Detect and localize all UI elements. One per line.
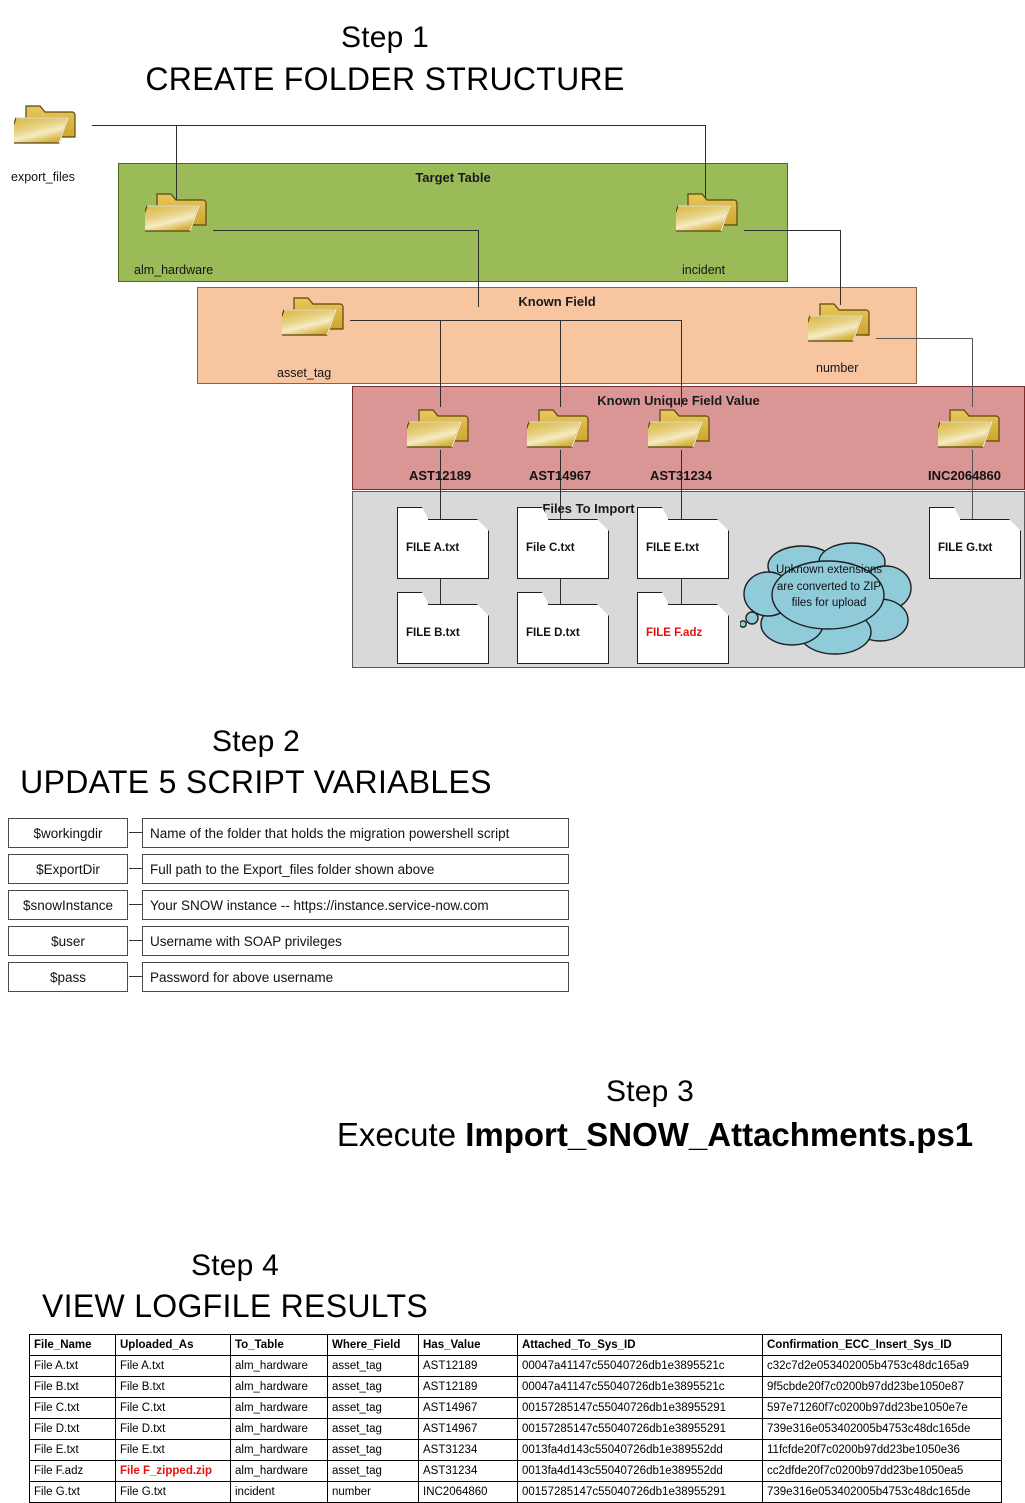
table-cell: File F.adz bbox=[30, 1461, 116, 1482]
folder-label-export-files: export_files bbox=[11, 170, 75, 184]
connector bbox=[681, 320, 682, 407]
table-row: File A.txt File A.txt alm_hardware asset… bbox=[30, 1356, 1002, 1377]
connector bbox=[440, 450, 441, 519]
table-cell: 739e316e053402005b4753c48dc165de bbox=[763, 1419, 1002, 1440]
table-cell: asset_tag bbox=[328, 1440, 419, 1461]
table-cell: incident bbox=[231, 1482, 328, 1503]
table-cell: File G.txt bbox=[30, 1482, 116, 1503]
logfile-results-table: File_Name Uploaded_As To_Table Where_Fie… bbox=[29, 1334, 1002, 1503]
table-cell: 00047a41147c55040726db1e3895521c bbox=[518, 1377, 763, 1398]
table-cell: asset_tag bbox=[328, 1461, 419, 1482]
folder-label-asset-tag: asset_tag bbox=[277, 366, 331, 380]
table-cell: asset_tag bbox=[328, 1377, 419, 1398]
file-node-label: FILE D.txt bbox=[526, 627, 580, 639]
table-cell: File C.txt bbox=[30, 1398, 116, 1419]
variable-name[interactable]: $pass bbox=[8, 962, 128, 992]
corner-clip bbox=[597, 519, 609, 531]
folder-label-ast31234: AST31234 bbox=[650, 468, 712, 483]
table-cell: 9f5cbde20f7c0200b97dd23be1050e87 bbox=[763, 1377, 1002, 1398]
variable-name[interactable]: $user bbox=[8, 926, 128, 956]
folder-icon-alm-hardware[interactable] bbox=[145, 188, 213, 236]
table-cell: alm_hardware bbox=[231, 1440, 328, 1461]
folder-label-number: number bbox=[816, 361, 858, 375]
file-node-a[interactable]: FILE A.txt bbox=[397, 519, 489, 579]
table-cell: asset_tag bbox=[328, 1419, 419, 1440]
file-node-e[interactable]: FILE E.txt bbox=[637, 519, 729, 579]
column-header: Confirmation_ECC_Insert_Sys_ID bbox=[763, 1335, 1002, 1356]
file-node-d[interactable]: FILE D.txt bbox=[517, 604, 609, 664]
connector bbox=[92, 125, 706, 126]
thought-cloud-text: Unknown extensions are converted to ZIP … bbox=[768, 562, 890, 612]
table-cell: File B.txt bbox=[30, 1377, 116, 1398]
table-cell: number bbox=[328, 1482, 419, 1503]
folder-icon-ast12189[interactable] bbox=[407, 404, 475, 452]
table-cell: File C.txt bbox=[116, 1398, 231, 1419]
column-header: File_Name bbox=[30, 1335, 116, 1356]
connector bbox=[560, 450, 561, 519]
table-cell: 11fcfde20f7c0200b97dd23be1050e36 bbox=[763, 1440, 1002, 1461]
step1-number: Step 1 bbox=[235, 22, 535, 54]
table-cell: File E.txt bbox=[30, 1440, 116, 1461]
folder-label-incident: incident bbox=[682, 263, 725, 277]
diagram-canvas: Step 1 CREATE FOLDER STRUCTURE Target Ta… bbox=[0, 0, 1025, 1500]
variable-name[interactable]: $workingdir bbox=[8, 818, 128, 848]
folder-icon-ast14967[interactable] bbox=[527, 404, 595, 452]
table-cell: asset_tag bbox=[328, 1356, 419, 1377]
table-cell: alm_hardware bbox=[231, 1398, 328, 1419]
table-cell: AST31234 bbox=[419, 1461, 518, 1482]
file-node-label: FILE B.txt bbox=[406, 627, 460, 639]
step3-title: Execute Import_SNOW_Attachments.ps1 bbox=[305, 1118, 1005, 1153]
table-cell: File E.txt bbox=[116, 1440, 231, 1461]
table-row: File E.txt File E.txt alm_hardware asset… bbox=[30, 1440, 1002, 1461]
step3-number: Step 3 bbox=[500, 1076, 800, 1108]
column-header: Attached_To_Sys_ID bbox=[518, 1335, 763, 1356]
table-cell: File A.txt bbox=[30, 1356, 116, 1377]
connector-dash bbox=[129, 904, 142, 905]
folder-label-alm-hardware: alm_hardware bbox=[134, 263, 213, 277]
connector bbox=[744, 230, 840, 231]
connector bbox=[560, 320, 561, 407]
connector bbox=[972, 338, 973, 407]
table-row: File G.txt File G.txt incident number IN… bbox=[30, 1482, 1002, 1503]
table-body: File A.txt File A.txt alm_hardware asset… bbox=[30, 1356, 1002, 1503]
variable-description[interactable]: Your SNOW instance -- https://instance.s… bbox=[142, 890, 569, 920]
step4-title: VIEW LOGFILE RESULTS bbox=[0, 1290, 470, 1324]
column-header: Where_Field bbox=[328, 1335, 419, 1356]
table-header-row: File_Name Uploaded_As To_Table Where_Fie… bbox=[30, 1335, 1002, 1356]
folder-icon-incident[interactable] bbox=[676, 188, 744, 236]
table-row: File B.txt File B.txt alm_hardware asset… bbox=[30, 1377, 1002, 1398]
file-node-label: File C.txt bbox=[526, 542, 575, 554]
table-cell: File A.txt bbox=[116, 1356, 231, 1377]
step4-number: Step 4 bbox=[85, 1250, 385, 1282]
connector bbox=[972, 450, 973, 519]
table-cell: AST12189 bbox=[419, 1377, 518, 1398]
connector bbox=[350, 320, 681, 321]
band-target-table-title: Target Table bbox=[119, 170, 787, 185]
folder-icon-inc2064860[interactable] bbox=[938, 404, 1006, 452]
connector-dash bbox=[129, 832, 142, 833]
table-cell: alm_hardware bbox=[231, 1419, 328, 1440]
table-cell: alm_hardware bbox=[231, 1377, 328, 1398]
file-node-f[interactable]: FILE F.adz bbox=[637, 604, 729, 664]
thought-cloud: Unknown extensions are converted to ZIP … bbox=[740, 540, 916, 660]
folder-icon-ast31234[interactable] bbox=[648, 404, 716, 452]
table-row: File D.txt File D.txt alm_hardware asset… bbox=[30, 1419, 1002, 1440]
variable-name[interactable]: $ExportDir bbox=[8, 854, 128, 884]
variable-description[interactable]: Name of the folder that holds the migrat… bbox=[142, 818, 569, 848]
step3-script-name: Import_SNOW_Attachments.ps1 bbox=[465, 1116, 973, 1153]
file-node-label: FILE E.txt bbox=[646, 542, 699, 554]
step2-title: UPDATE 5 SCRIPT VARIABLES bbox=[6, 766, 506, 800]
table-cell: cc2dfde20f7c0200b97dd23be1050ea5 bbox=[763, 1461, 1002, 1482]
table-cell: 00157285147c55040726db1e38955291 bbox=[518, 1419, 763, 1440]
table-cell: alm_hardware bbox=[231, 1461, 328, 1482]
table-row: File C.txt File C.txt alm_hardware asset… bbox=[30, 1398, 1002, 1419]
file-node-b[interactable]: FILE B.txt bbox=[397, 604, 489, 664]
table-row: File F.adz File F_zipped.zip alm_hardwar… bbox=[30, 1461, 1002, 1482]
table-cell: asset_tag bbox=[328, 1398, 419, 1419]
table-cell: 00157285147c55040726db1e38955291 bbox=[518, 1482, 763, 1503]
file-node-label: FILE G.txt bbox=[938, 542, 992, 554]
table-cell: 739e316e053402005b4753c48dc165de bbox=[763, 1482, 1002, 1503]
connector-dash bbox=[129, 940, 142, 941]
connector bbox=[213, 230, 478, 231]
table-cell: File B.txt bbox=[116, 1377, 231, 1398]
connector bbox=[440, 320, 441, 407]
step1-title: CREATE FOLDER STRUCTURE bbox=[135, 63, 635, 97]
table-cell: AST14967 bbox=[419, 1419, 518, 1440]
table-cell: 0013fa4d143c55040726db1e389552dd bbox=[518, 1461, 763, 1482]
variable-description[interactable]: Username with SOAP privileges bbox=[142, 926, 569, 956]
table-cell: c32c7d2e053402005b4753c48dc165a9 bbox=[763, 1356, 1002, 1377]
file-node-g[interactable]: FILE G.txt bbox=[929, 519, 1021, 579]
corner-clip bbox=[717, 604, 729, 616]
folder-icon-export-files[interactable] bbox=[14, 100, 82, 148]
file-node-c[interactable]: File C.txt bbox=[517, 519, 609, 579]
connector bbox=[840, 230, 841, 305]
corner-clip bbox=[477, 604, 489, 616]
corner-clip bbox=[477, 519, 489, 531]
connector-dash bbox=[129, 868, 142, 869]
connector-dash bbox=[129, 976, 142, 977]
folder-icon-asset-tag[interactable] bbox=[282, 292, 350, 340]
connector bbox=[681, 450, 682, 519]
corner-clip bbox=[717, 519, 729, 531]
table-cell-highlight: File F_zipped.zip bbox=[116, 1461, 231, 1482]
table-cell: AST31234 bbox=[419, 1440, 518, 1461]
folder-label-inc2064860: INC2064860 bbox=[928, 468, 1001, 483]
folder-label-ast12189: AST12189 bbox=[409, 468, 471, 483]
column-header: Has_Value bbox=[419, 1335, 518, 1356]
table-cell: AST12189 bbox=[419, 1356, 518, 1377]
column-header: Uploaded_As bbox=[116, 1335, 231, 1356]
table-cell: File D.txt bbox=[116, 1419, 231, 1440]
file-node-label: FILE A.txt bbox=[406, 542, 459, 554]
step3-prefix: Execute bbox=[337, 1116, 465, 1153]
step2-number: Step 2 bbox=[106, 726, 406, 758]
corner-clip bbox=[1009, 519, 1021, 531]
variable-description[interactable]: Password for above username bbox=[142, 962, 569, 992]
table-cell: 00157285147c55040726db1e38955291 bbox=[518, 1398, 763, 1419]
table-cell: AST14967 bbox=[419, 1398, 518, 1419]
corner-clip bbox=[597, 604, 609, 616]
column-header: To_Table bbox=[231, 1335, 328, 1356]
table-cell: alm_hardware bbox=[231, 1356, 328, 1377]
folder-label-ast14967: AST14967 bbox=[529, 468, 591, 483]
table-cell: 0013fa4d143c55040726db1e389552dd bbox=[518, 1440, 763, 1461]
table-cell: File G.txt bbox=[116, 1482, 231, 1503]
file-node-label: FILE F.adz bbox=[646, 627, 702, 639]
variable-description[interactable]: Full path to the Export_files folder sho… bbox=[142, 854, 569, 884]
table-cell: 00047a41147c55040726db1e3895521c bbox=[518, 1356, 763, 1377]
table-cell: File D.txt bbox=[30, 1419, 116, 1440]
connector bbox=[876, 338, 972, 339]
variable-name[interactable]: $snowInstance bbox=[8, 890, 128, 920]
connector bbox=[478, 230, 479, 307]
table-cell: 597e71260f7c0200b97dd23be1050e7e bbox=[763, 1398, 1002, 1419]
folder-icon-number[interactable] bbox=[808, 298, 876, 346]
table-cell: INC2064860 bbox=[419, 1482, 518, 1503]
